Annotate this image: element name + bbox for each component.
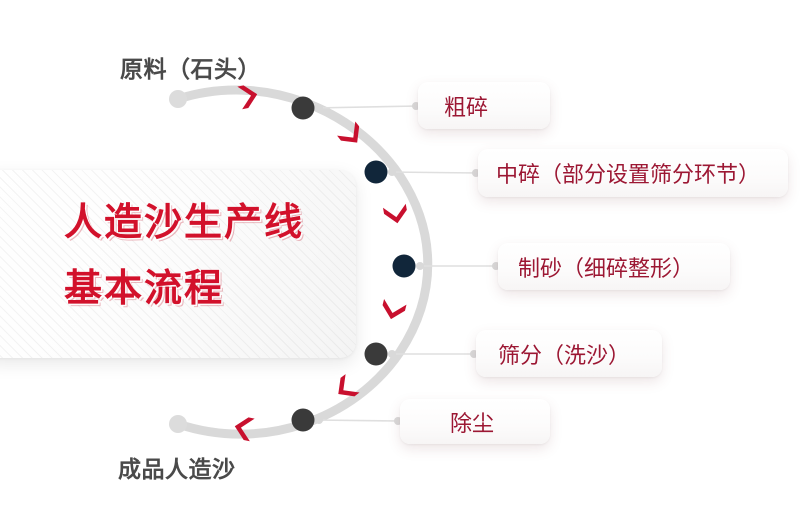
step-card-chuchen[interactable]: 除尘 [400, 399, 550, 444]
title-text-group: 人造沙生产线 基本流程 [64, 204, 304, 308]
step-card-zhongsui[interactable]: 中碎（部分设置筛分环节） [478, 149, 788, 197]
title-line-1: 人造沙生产线 [64, 204, 304, 242]
title-line-2: 基本流程 [64, 270, 304, 308]
start-label: 原料（石头） [120, 50, 261, 84]
process-node-icon-2[interactable] [393, 255, 416, 278]
chevron-arrow-icon-4 [380, 299, 407, 322]
step-card-shaifen[interactable]: 筛分（洗沙） [476, 330, 662, 377]
connector-line-1 [388, 172, 478, 173]
process-node-icon-3[interactable] [365, 343, 388, 366]
endpoint-dot-icon-end [169, 415, 187, 433]
step-card-zhisha[interactable]: 制砂（细碎整形） [498, 243, 730, 290]
end-label: 成品人造沙 [118, 450, 236, 484]
step-label-2: 制砂（细碎整形） [518, 251, 694, 283]
connector-line-4 [314, 420, 400, 421]
chevron-arrow-icon-3 [383, 204, 409, 226]
step-card-cuisui[interactable]: 粗碎 [418, 82, 550, 129]
process-node-icon-4[interactable] [292, 409, 315, 432]
endpoint-dot-icon-start [169, 90, 187, 108]
diagram-canvas: 原料（石头） 成品人造沙 人造沙生产线 基本流程 粗碎 中碎（部分设置筛分环节）… [0, 0, 800, 530]
process-node-icon-0[interactable] [292, 97, 315, 120]
step-label-0: 粗碎 [444, 90, 488, 122]
connector-line-0 [314, 106, 418, 108]
step-label-1: 中碎（部分设置筛分环节） [496, 157, 760, 189]
title-card: 人造沙生产线 基本流程 [0, 170, 356, 358]
step-label-3: 筛分（洗沙） [498, 338, 630, 370]
step-label-4: 除尘 [450, 406, 494, 438]
process-node-icon-1[interactable] [365, 161, 388, 184]
